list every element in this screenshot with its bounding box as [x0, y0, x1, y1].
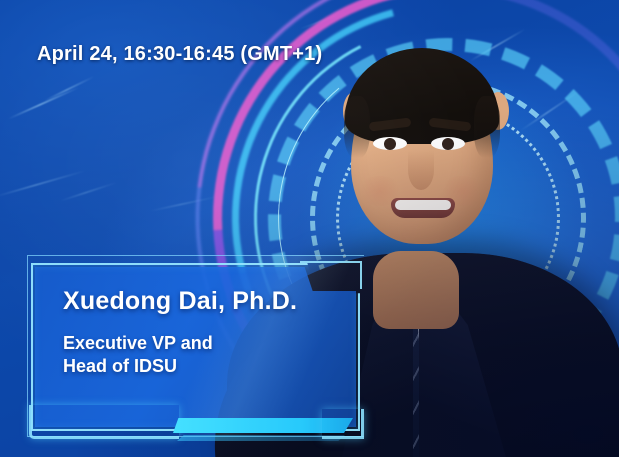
- speaker-title: Executive VP and Head of IDSU: [63, 332, 346, 378]
- card-corner-top-right: [300, 261, 362, 289]
- card-accent-bar-shadow: [177, 435, 345, 441]
- speaker-title-line-1: Executive VP and: [63, 332, 346, 355]
- card-corner-bottom-right: [322, 409, 364, 439]
- speaker-card: Xuedong Dai, Ph.D. Executive VP and Head…: [27, 255, 364, 437]
- event-datetime: April 24, 16:30-16:45 (GMT+1): [37, 43, 322, 66]
- speaker-name: Xuedong Dai, Ph.D.: [63, 287, 346, 316]
- card-text-block: Xuedong Dai, Ph.D. Executive VP and Head…: [63, 287, 346, 378]
- card-corner-bottom-left: [29, 405, 179, 439]
- speaker-title-line-2: Head of IDSU: [63, 355, 346, 378]
- promo-banner: April 24, 16:30-16:45 (GMT+1) Xuedong Da…: [0, 0, 619, 457]
